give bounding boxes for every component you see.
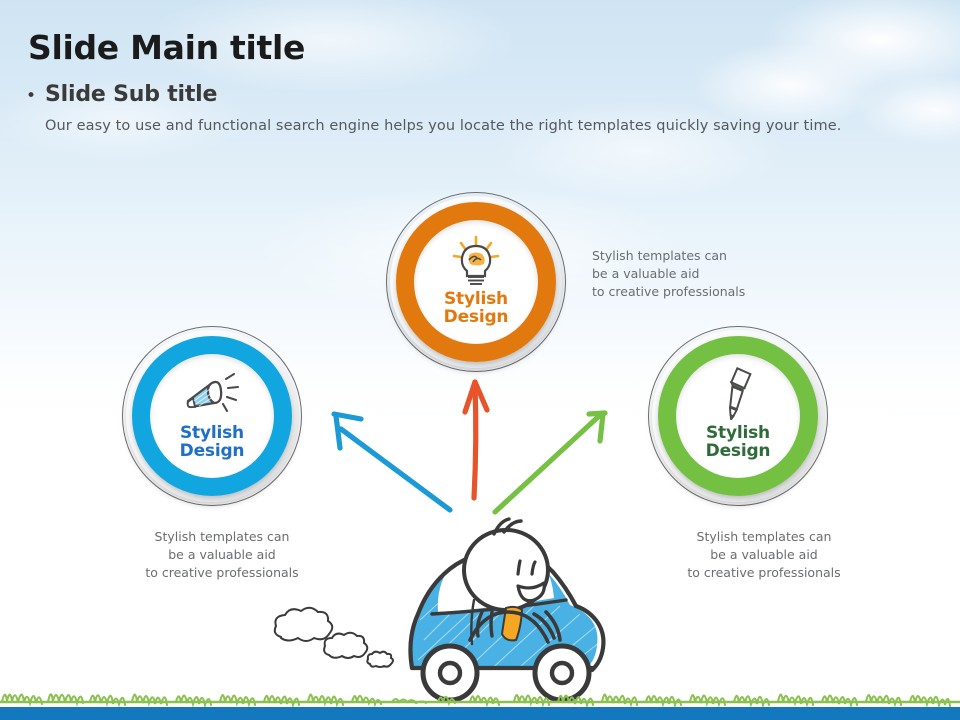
page-title: Slide Main title	[28, 28, 305, 67]
node-label: Stylish Design	[444, 290, 509, 327]
caption-orange: Stylish templates can be a valuable aid …	[592, 247, 745, 300]
marker-pen-icon	[716, 366, 760, 422]
node-blue[interactable]: Stylish Design	[122, 326, 302, 506]
node-green[interactable]: Stylish Design	[648, 326, 828, 506]
lightbulb-icon	[450, 232, 502, 288]
node-label: Stylish Design	[706, 424, 771, 461]
node-inner-face: Stylish Design	[676, 354, 800, 478]
caption-green: Stylish templates can be a valuable aid …	[648, 528, 880, 581]
exhaust-clouds-icon	[275, 608, 393, 667]
node-inner-face: Stylish Design	[150, 354, 274, 478]
page-subtitle: Slide Sub title	[45, 82, 217, 107]
cartoon-car-illustration	[410, 519, 603, 700]
bullet-icon: •	[26, 88, 36, 105]
megaphone-icon	[182, 366, 242, 422]
node-orange[interactable]: Stylish Design	[386, 192, 566, 372]
node-label: Stylish Design	[180, 424, 245, 461]
footer-bar	[0, 707, 960, 720]
grass-strip	[0, 694, 960, 706]
node-inner-face: Stylish Design	[414, 220, 538, 344]
page-description: Our easy to use and functional search en…	[45, 118, 841, 134]
caption-blue: Stylish templates can be a valuable aid …	[110, 528, 334, 581]
slide-canvas: Slide Main title • Slide Sub title Our e…	[0, 0, 960, 720]
subtitle-row: • Slide Sub title	[26, 82, 217, 107]
